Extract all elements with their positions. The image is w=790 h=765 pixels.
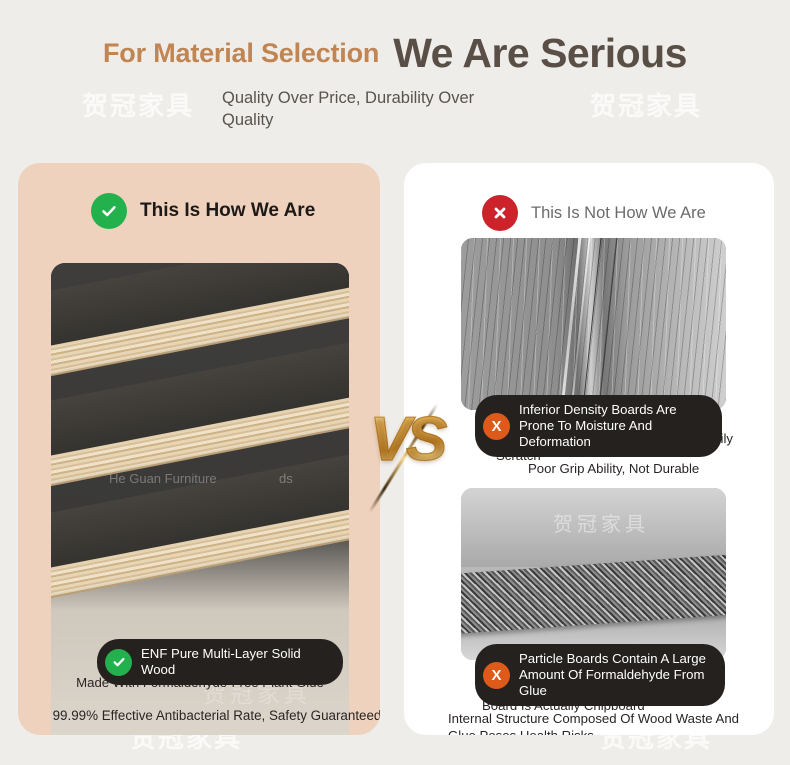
good-panel-heading-label: This Is How We Are bbox=[140, 200, 315, 222]
headline-subtitle: Quality Over Price, Durability Over Qual… bbox=[222, 88, 522, 132]
particle-board-photo-watermark: 贺冠家具 bbox=[553, 508, 649, 537]
headline: For Material SelectionWe Are Serious bbox=[0, 30, 790, 77]
x-icon: X bbox=[483, 662, 510, 689]
plywood-photo-watermark-left: He Guan Furniture bbox=[109, 471, 217, 486]
damaged-board-photo bbox=[461, 238, 726, 410]
check-circle-icon bbox=[91, 193, 127, 229]
page-header: For Material SelectionWe Are Serious Qua… bbox=[0, 0, 790, 150]
good-panel-heading: This Is How We Are bbox=[91, 193, 315, 229]
good-panel: This Is How We Are He Guan Furniture ds … bbox=[18, 163, 380, 735]
good-pill-text: ENF Pure Multi-Layer Solid Wood bbox=[141, 646, 327, 678]
bad-panel-heading: This Is Not How We Are bbox=[482, 195, 706, 231]
particle-board-scene: 贺冠家具 bbox=[461, 488, 726, 660]
bad-pill-label-2: X Particle Boards Contain A Large Amount… bbox=[475, 644, 725, 706]
damaged-board-grain bbox=[461, 238, 726, 410]
x-circle-icon bbox=[482, 195, 518, 231]
bad-pill-text-2: Particle Boards Contain A Large Amount O… bbox=[519, 651, 709, 699]
bad-pill-text-1: Inferior Density Boards Are Prone To Moi… bbox=[519, 402, 706, 450]
good-caption-2: 99.99% Effective Antibacterial Rate, Saf… bbox=[36, 708, 380, 725]
bad-pill-label-1: X Inferior Density Boards Are Prone To M… bbox=[475, 395, 722, 457]
plywood-photo-watermark-right: ds bbox=[279, 471, 293, 486]
good-pill-label: ENF Pure Multi-Layer Solid Wood bbox=[97, 639, 343, 685]
bad-caption-1b: Poor Grip Ability, Not Durable bbox=[528, 461, 758, 478]
bad-caption-2b: Internal Structure Composed Of Wood Wast… bbox=[448, 711, 758, 735]
x-icon: X bbox=[483, 413, 510, 440]
check-icon bbox=[105, 649, 132, 676]
bad-panel-heading-label: This Is Not How We Are bbox=[531, 204, 706, 223]
headline-main: We Are Serious bbox=[393, 30, 687, 76]
headline-accent: For Material Selection bbox=[103, 38, 379, 68]
bad-panel: This Is Not How We Are X Inferior Densit… bbox=[404, 163, 774, 735]
particle-board-photo: 贺冠家具 bbox=[461, 488, 726, 660]
